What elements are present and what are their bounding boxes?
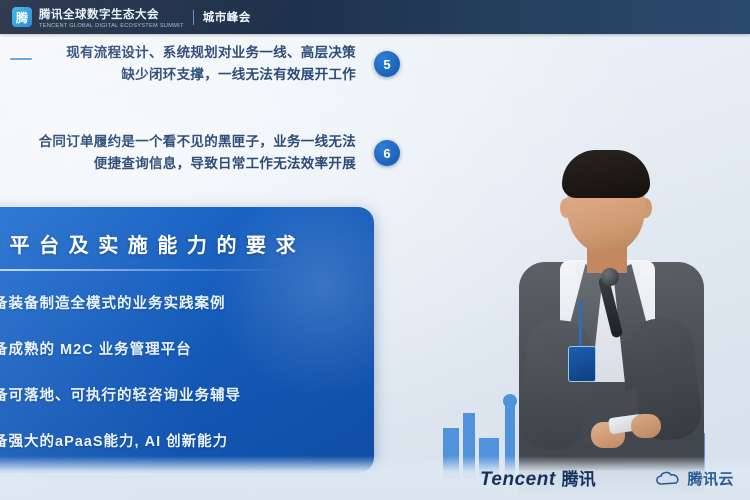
slide-point-5: 现有流程设计、系统规划对业务一线、高层决策 缺少闭环支撑，一线无法有效展开工作 … <box>40 42 400 86</box>
hair <box>562 150 650 198</box>
cloud-icon <box>655 471 681 486</box>
brand-tencent-cn-text: 腾讯 <box>562 465 596 490</box>
requirement-item-2: 、具备成熟的 M2C 业务管理平台 <box>0 338 192 359</box>
requirement-item-1: 、具备装备制造全模式的业务实践案例 <box>0 292 226 313</box>
point-5-line-2: 缺少闭环支撑，一线无法有效展开工作 <box>66 64 356 86</box>
brand-tencent-text: Tencent <box>480 469 556 491</box>
speaker-figure <box>505 150 725 500</box>
requirements-card: 对 平 台 及 实 施 能 力 的 要 求 、具备装备制造全模式的业务实践案例 … <box>0 207 374 473</box>
brand-cloud-text: 腾讯云 <box>687 468 734 489</box>
banner-title: 腾讯全球数字生态大会 <box>39 6 184 22</box>
heading-underline <box>0 269 284 271</box>
requirement-item-3: 、具备可落地、可执行的轻咨询业务辅导 <box>0 384 241 405</box>
point-6-text: 合同订单履约是一个看不见的黑匣子，业务一线无法 便捷查询信息，导致日常工作无法效… <box>39 131 356 175</box>
point-6-number: 6 <box>374 140 400 166</box>
footer-bar <box>0 456 750 500</box>
requirements-heading: 对 平 台 及 实 施 能 力 的 要 求 <box>0 229 298 258</box>
badge-lanyard <box>579 300 582 348</box>
banner-divider <box>193 10 194 25</box>
banner-title-block: 腾讯全球数字生态大会 TENCENT GLOBAL DIGITAL ECOSYS… <box>39 6 184 29</box>
event-banner: 腾 腾讯全球数字生态大会 TENCENT GLOBAL DIGITAL ECOS… <box>0 0 750 34</box>
bullet-dash-5 <box>10 58 32 60</box>
point-5-number: 5 <box>374 51 400 77</box>
tencent-logo-icon: 腾 <box>12 7 32 27</box>
logo-glyph: 腾 <box>16 9 28 26</box>
slide-point-6: 合同订单履约是一个看不见的黑匣子，业务一线无法 便捷查询信息，导致日常工作无法效… <box>8 131 400 175</box>
banner-city-label: 城市峰会 <box>203 9 251 25</box>
badge-icon <box>568 346 596 382</box>
requirement-item-4: 、具备强大的aPaaS能力, AI 创新能力 <box>0 430 228 451</box>
point-6-line-2: 便捷查询信息，导致日常工作无法效率开展 <box>39 153 356 175</box>
footer-brand-cloud: 腾讯云 <box>655 468 734 489</box>
footer-brand-tencent: Tencent 腾讯 <box>480 465 596 491</box>
microphone-head-icon <box>601 268 619 286</box>
point-6-line-1: 合同订单履约是一个看不见的黑匣子，业务一线无法 <box>39 131 356 153</box>
point-5-line-1: 现有流程设计、系统规划对业务一线、高层决策 <box>66 42 356 64</box>
hand-right <box>631 414 661 438</box>
screenshot-root: 腾 腾讯全球数字生态大会 TENCENT GLOBAL DIGITAL ECOS… <box>0 0 750 500</box>
banner-subtitle: TENCENT GLOBAL DIGITAL ECOSYSTEM SUMMIT <box>39 23 184 29</box>
point-5-text: 现有流程设计、系统规划对业务一线、高层决策 缺少闭环支撑，一线无法有效展开工作 <box>66 42 356 86</box>
